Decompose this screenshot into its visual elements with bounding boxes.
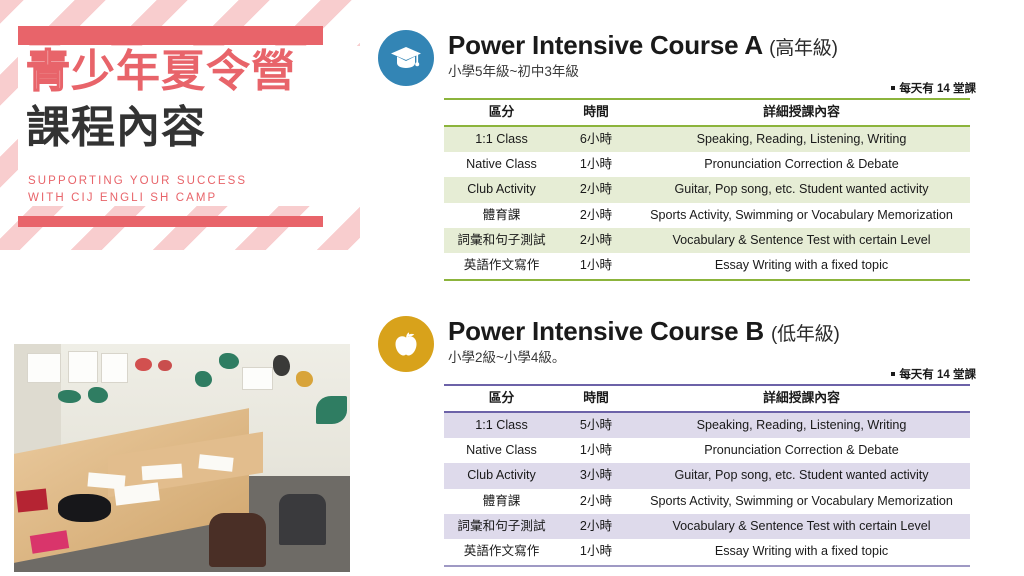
course-a-row-3-detail: Sports Activity, Swimming or Vocabulary … — [633, 203, 970, 228]
title-bar-top — [18, 26, 323, 45]
table-row: Native Class 1小時 Pronunciation Correctio… — [444, 438, 970, 463]
course-a-col-header-1: 時間 — [559, 99, 633, 126]
course-a-col-header-2: 詳細授課內容 — [633, 99, 970, 126]
course-block-b: Power Intensive Course B (低年級) 小學2級~小學4級… — [378, 316, 998, 378]
title-bar-bottom — [18, 216, 323, 227]
course-b-col-header-0: 區分 — [444, 385, 559, 412]
course-a-table: 區分 時間 詳細授課內容 1:1 Class 6小時 Speaking, Rea… — [444, 98, 970, 281]
table-row: Native Class 1小時 Pronunciation Correctio… — [444, 152, 970, 177]
course-a-titles: Power Intensive Course A (高年級) 小學5年級~初中3… — [448, 30, 838, 80]
apple-icon — [378, 316, 434, 372]
course-a-row-1-detail: Pronunciation Correction & Debate — [633, 152, 970, 177]
page-subtitle-line-2: WITH CIJ ENGLI SH CAMP — [28, 192, 217, 204]
course-b-header: Power Intensive Course B (低年級) 小學2級~小學4級… — [378, 316, 998, 378]
course-a-row-2-detail: Guitar, Pop song, etc. Student wanted ac… — [633, 177, 970, 202]
course-b-row-1-detail: Pronunciation Correction & Debate — [633, 438, 970, 463]
course-b-col-header-1: 時間 — [559, 385, 633, 412]
course-block-a: Power Intensive Course A (高年級) 小學5年級~初中3… — [378, 30, 998, 92]
slide-root: 青少年夏令營 課程內容 SUPPORTING YOUR SUCCESS WITH… — [0, 0, 1024, 576]
course-b-row-3-name: 體育課 — [444, 489, 559, 514]
course-a-row-4-time: 2小時 — [559, 228, 633, 253]
course-a-row-0-name: 1:1 Class — [444, 126, 559, 152]
course-b-row-0-detail: Speaking, Reading, Listening, Writing — [633, 412, 970, 438]
course-b-table: 區分 時間 詳細授課內容 1:1 Class 5小時 Speaking, Rea… — [444, 384, 970, 567]
course-a-header: Power Intensive Course A (高年級) 小學5年級~初中3… — [378, 30, 998, 92]
table-row: 體育課 2小時 Sports Activity, Swimming or Voc… — [444, 489, 970, 514]
course-a-table-header-row: 區分 時間 詳細授課內容 — [444, 99, 970, 126]
course-b-row-5-name: 英語作文寫作 — [444, 539, 559, 565]
course-a-row-5-name: 英語作文寫作 — [444, 253, 559, 279]
page-title-line-1: 青少年夏令營 — [26, 48, 296, 95]
course-b-row-5-time: 1小時 — [559, 539, 633, 565]
course-b-title-main: Power Intensive Course B — [448, 316, 764, 346]
course-a-note: 每天有 14 堂課 — [891, 80, 976, 96]
course-a-row-2-time: 2小時 — [559, 177, 633, 202]
title-panel: 青少年夏令營 課程內容 SUPPORTING YOUR SUCCESS WITH… — [0, 0, 360, 250]
course-b-row-3-detail: Sports Activity, Swimming or Vocabulary … — [633, 489, 970, 514]
table-row: 詞彙和句子測試 2小時 Vocabulary & Sentence Test w… — [444, 514, 970, 539]
table-row: 1:1 Class 6小時 Speaking, Reading, Listeni… — [444, 126, 970, 152]
page-subtitle-line-1: SUPPORTING YOUR SUCCESS — [28, 175, 247, 187]
graduation-cap-icon — [378, 30, 434, 86]
course-b-row-2-time: 3小時 — [559, 463, 633, 488]
course-a-row-2-name: Club Activity — [444, 177, 559, 202]
classroom-photo — [14, 344, 350, 572]
page-title-solid-text: 少年夏令營 — [71, 47, 296, 96]
course-b-row-2-name: Club Activity — [444, 463, 559, 488]
course-a-subtitle: 小學5年級~初中3年級 — [448, 64, 838, 80]
course-b-row-1-time: 1小時 — [559, 438, 633, 463]
course-b-note-text: 每天有 14 堂課 — [899, 369, 976, 381]
table-row: 詞彙和句子測試 2小時 Vocabulary & Sentence Test w… — [444, 228, 970, 253]
course-a-note-text: 每天有 14 堂課 — [899, 83, 976, 95]
table-row: 1:1 Class 5小時 Speaking, Reading, Listeni… — [444, 412, 970, 438]
course-a-title: Power Intensive Course A (高年級) — [448, 30, 838, 61]
course-a-row-0-detail: Speaking, Reading, Listening, Writing — [633, 126, 970, 152]
course-b-row-0-time: 5小時 — [559, 412, 633, 438]
course-b-row-5-detail: Essay Writing with a fixed topic — [633, 539, 970, 565]
course-b-note: 每天有 14 堂課 — [891, 366, 976, 382]
table-row: Club Activity 2小時 Guitar, Pop song, etc.… — [444, 177, 970, 202]
course-b-titles: Power Intensive Course B (低年級) 小學2級~小學4級… — [448, 316, 840, 366]
course-a-row-1-time: 1小時 — [559, 152, 633, 177]
bullet-square-icon — [891, 86, 895, 90]
page-subtitle: SUPPORTING YOUR SUCCESS WITH CIJ ENGLI S… — [28, 173, 247, 206]
course-a-row-4-name: 詞彙和句子測試 — [444, 228, 559, 253]
table-row: 體育課 2小時 Sports Activity, Swimming or Voc… — [444, 203, 970, 228]
course-b-row-4-detail: Vocabulary & Sentence Test with certain … — [633, 514, 970, 539]
course-a-row-5-time: 1小時 — [559, 253, 633, 279]
course-b-grade: (低年級) — [771, 324, 840, 345]
course-a-row-3-time: 2小時 — [559, 203, 633, 228]
page-title-outline-char: 青 — [26, 47, 71, 96]
course-b-title: Power Intensive Course B (低年級) — [448, 316, 840, 347]
course-b-row-4-time: 2小時 — [559, 514, 633, 539]
course-b-row-0-name: 1:1 Class — [444, 412, 559, 438]
course-a-row-1-name: Native Class — [444, 152, 559, 177]
course-b-row-1-name: Native Class — [444, 438, 559, 463]
course-b-subtitle: 小學2級~小學4級。 — [448, 350, 840, 366]
course-b-row-2-detail: Guitar, Pop song, etc. Student wanted ac… — [633, 463, 970, 488]
classroom-photo-image — [14, 344, 350, 572]
course-a-row-3-name: 體育課 — [444, 203, 559, 228]
course-b-row-4-name: 詞彙和句子測試 — [444, 514, 559, 539]
bullet-square-icon — [891, 372, 895, 376]
course-b-table-header-row: 區分 時間 詳細授課內容 — [444, 385, 970, 412]
table-row: Club Activity 3小時 Guitar, Pop song, etc.… — [444, 463, 970, 488]
course-b-col-header-2: 詳細授課內容 — [633, 385, 970, 412]
course-a-row-4-detail: Vocabulary & Sentence Test with certain … — [633, 228, 970, 253]
course-a-grade: (高年級) — [769, 38, 838, 59]
table-row: 英語作文寫作 1小時 Essay Writing with a fixed to… — [444, 539, 970, 565]
course-a-col-header-0: 區分 — [444, 99, 559, 126]
course-a-row-5-detail: Essay Writing with a fixed topic — [633, 253, 970, 279]
course-b-row-3-time: 2小時 — [559, 489, 633, 514]
page-title-line-2: 課程內容 — [26, 104, 206, 151]
table-row: 英語作文寫作 1小時 Essay Writing with a fixed to… — [444, 253, 970, 279]
course-a-row-0-time: 6小時 — [559, 126, 633, 152]
course-a-title-main: Power Intensive Course A — [448, 30, 762, 60]
